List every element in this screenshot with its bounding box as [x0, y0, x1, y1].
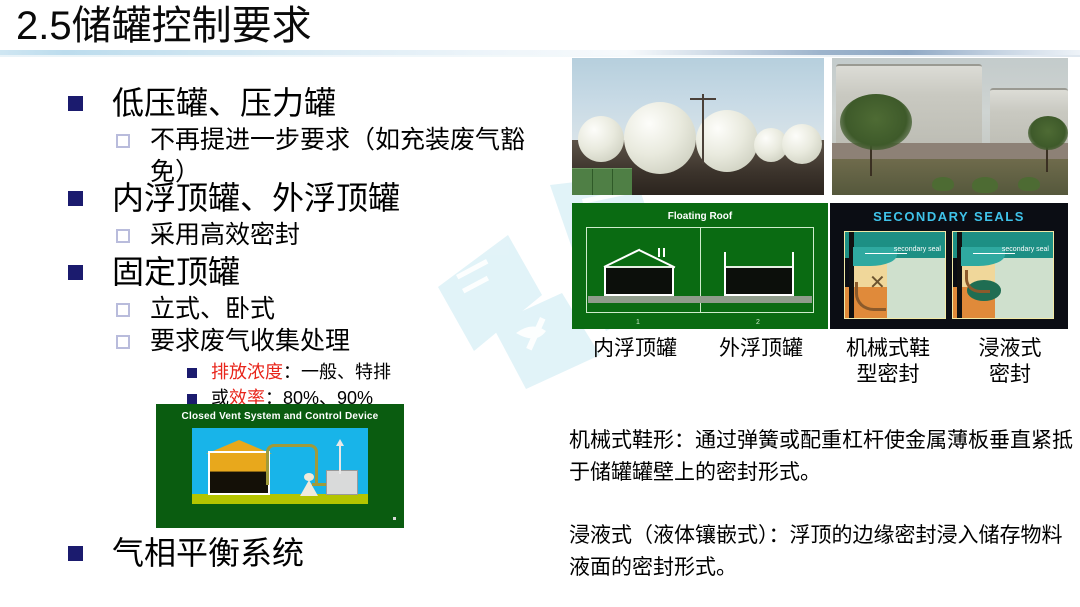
liquid-mounted-seal-panel: secondary seal — [952, 231, 1054, 319]
bullet-text: 要求废气收集处理 — [150, 325, 350, 357]
bullet-square-level2 — [116, 335, 130, 349]
tank-wall — [849, 232, 854, 318]
title-divider-secondary — [0, 55, 1080, 57]
emphasis-text: 排放浓度 — [211, 362, 283, 382]
caption-internal-floating-roof: 内浮顶罐 — [572, 336, 698, 388]
liquid-product — [887, 258, 945, 318]
liquid-product — [995, 258, 1053, 318]
list-item: 气相平衡系统 — [68, 532, 304, 574]
ground — [192, 494, 368, 504]
spherical-tank — [782, 124, 822, 164]
image-captions-row: 内浮顶罐 外浮顶罐 机械式鞋 型密封 浸液式 密封 — [572, 336, 1072, 388]
bullet-text-rest: ：一般、特排 — [283, 362, 391, 382]
list-item: 固定顶罐 — [68, 251, 240, 293]
shrub — [972, 177, 998, 193]
tank-farm-photo — [832, 58, 1068, 195]
list-item: 低压罐、压力罐 — [68, 82, 336, 124]
bullet-text: 采用高效密封 — [150, 219, 300, 251]
tank-wall — [724, 252, 726, 268]
roof-vent — [663, 248, 665, 257]
bullet-square-level1 — [68, 546, 83, 561]
shrub — [1018, 177, 1040, 191]
ground-line — [588, 296, 812, 303]
list-item: 要求废气收集处理 — [116, 325, 350, 357]
utility-pole — [702, 94, 704, 164]
closed-vent-scene — [192, 428, 368, 504]
exhaust-stack — [339, 444, 341, 474]
list-item: 内浮顶罐、外浮顶罐 — [68, 177, 400, 219]
secondary-seal-label: secondary seal — [894, 246, 941, 253]
paragraph-liquid-mounted-seal: 浸液式（液体镶嵌式）：浮顶的边缘密封浸入储存物料液面的密封形式。 — [569, 520, 1077, 584]
list-item: 采用高效密封 — [116, 219, 300, 251]
diagram-number-2: 2 — [756, 319, 760, 326]
bullet-text: 排放浓度：一般、特排 — [211, 360, 391, 384]
tree — [1028, 116, 1068, 150]
secondary-seal-label: secondary seal — [1002, 246, 1049, 253]
bullet-text: 固定顶罐 — [112, 251, 240, 293]
tree — [840, 94, 912, 150]
secondary-seals-title: SECONDARY SEALS — [830, 209, 1068, 224]
spherical-tanks-photo — [572, 58, 824, 195]
tank-wall — [604, 267, 606, 268]
floating-roof-diagram: Floating Roof 1 2 — [572, 203, 828, 329]
bullet-text: 立式、卧式 — [150, 293, 275, 325]
bullet-square-level2 — [116, 229, 130, 243]
spherical-tank — [578, 116, 624, 162]
caption-liquid-mounted-seal: 浸液式 密封 — [952, 336, 1068, 388]
liquid-surface — [604, 266, 674, 268]
corner-dot — [393, 517, 396, 520]
bullet-square-level2 — [116, 303, 130, 317]
pointer-line-icon — [865, 253, 907, 254]
bullet-square-level1 — [68, 96, 83, 111]
exhaust-arrow-icon — [336, 439, 344, 446]
right-content-column: Floating Roof 1 2 SECONDARY SEALS — [560, 0, 1080, 607]
storage-tank — [208, 451, 270, 495]
bullet-square-level3 — [187, 394, 197, 404]
page-title: 2.5储罐控制要求 — [16, 2, 312, 50]
paragraph-mechanical-shoe-seal: 机械式鞋形：通过弹簧或配重杠杆使金属薄板垂直紧抵于储罐罐壁上的密封形式。 — [569, 425, 1077, 489]
mechanical-shoe-seal-panel: secondary seal ✕ — [844, 231, 946, 319]
external-floating-roof-tank — [724, 268, 794, 296]
shrub — [932, 177, 954, 191]
bullet-square-level1 — [68, 191, 83, 206]
roof-vent — [658, 248, 660, 257]
control-device — [326, 470, 358, 495]
bullet-text: 低压罐、压力罐 — [112, 82, 336, 124]
pointer-line-icon — [973, 253, 1015, 254]
closed-vent-system-image: Closed Vent System and Control Device — [156, 404, 404, 528]
bullet-square-level2 — [116, 134, 130, 148]
bullet-square-level1 — [68, 265, 83, 280]
internal-floating-roof-tank — [604, 268, 674, 296]
bullet-text: 气相平衡系统 — [112, 532, 304, 574]
bullet-text: 内浮顶罐、外浮顶罐 — [112, 177, 400, 219]
diagram-number-1: 1 — [636, 319, 640, 326]
spherical-tank — [624, 102, 696, 174]
floating-roof-title: Floating Roof — [572, 211, 828, 222]
caption-external-floating-roof: 外浮顶罐 — [698, 336, 824, 388]
closed-vent-image-caption: Closed Vent System and Control Device — [156, 411, 404, 422]
secondary-seals-diagram: SECONDARY SEALS secondary seal ✕ seconda… — [830, 203, 1068, 329]
slide-title-bar: 2.5储罐控制要求 — [0, 0, 1080, 52]
pole-crossarm — [690, 98, 716, 100]
caption-mechanical-shoe-seal: 机械式鞋 型密封 — [824, 336, 952, 388]
bullet-square-level3 — [187, 368, 197, 378]
list-item: 立式、卧式 — [116, 293, 275, 325]
green-equipment-cabinets — [572, 168, 632, 195]
liquid-surface — [724, 266, 794, 268]
tank-wall — [792, 252, 794, 268]
spherical-tank — [696, 110, 758, 172]
tank-wall — [957, 232, 962, 318]
list-item: 排放浓度：一般、特排 — [187, 360, 391, 384]
